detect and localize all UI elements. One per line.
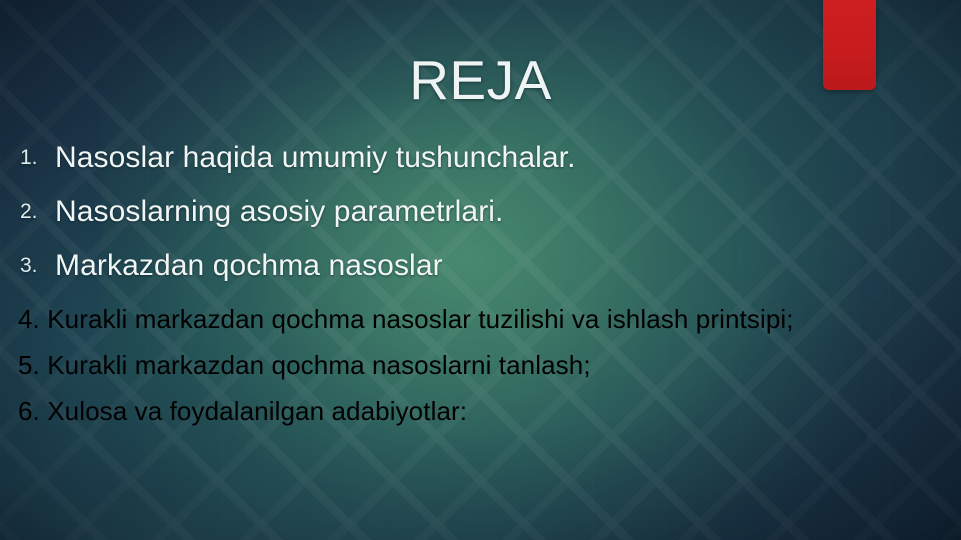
- slide-content: REJA 1. Nasoslar haqida umumiy tushuncha…: [0, 0, 961, 540]
- list-item: 6. Xulosa va foydalanilgan adabiyotlar:: [18, 394, 863, 428]
- list-item-label: Nasoslarning asosiy parametrlari.: [55, 194, 503, 230]
- list-item: 4. Kurakli markazdan qochma nasoslar tuz…: [18, 302, 863, 336]
- list-item: 5. Kurakli markazdan qochma nasoslarni t…: [18, 348, 863, 382]
- list-item-marker: 3.: [18, 248, 55, 284]
- list-item-label: Markazdan qochma nasoslar: [55, 248, 443, 284]
- list-item: 3. Markazdan qochma nasoslar: [18, 248, 871, 284]
- list-item: 1. Nasoslar haqida umumiy tushunchalar.: [18, 140, 871, 176]
- list-item-marker: 1.: [18, 140, 55, 176]
- list-item-label: Nasoslar haqida umumiy tushunchalar.: [55, 140, 576, 176]
- list-item-marker: 2.: [18, 194, 55, 230]
- presentation-slide: REJA 1. Nasoslar haqida umumiy tushuncha…: [0, 0, 961, 540]
- agenda-list: 1. Nasoslar haqida umumiy tushunchalar. …: [18, 140, 871, 440]
- slide-title: REJA: [0, 52, 961, 110]
- list-item: 2. Nasoslarning asosiy parametrlari.: [18, 194, 871, 230]
